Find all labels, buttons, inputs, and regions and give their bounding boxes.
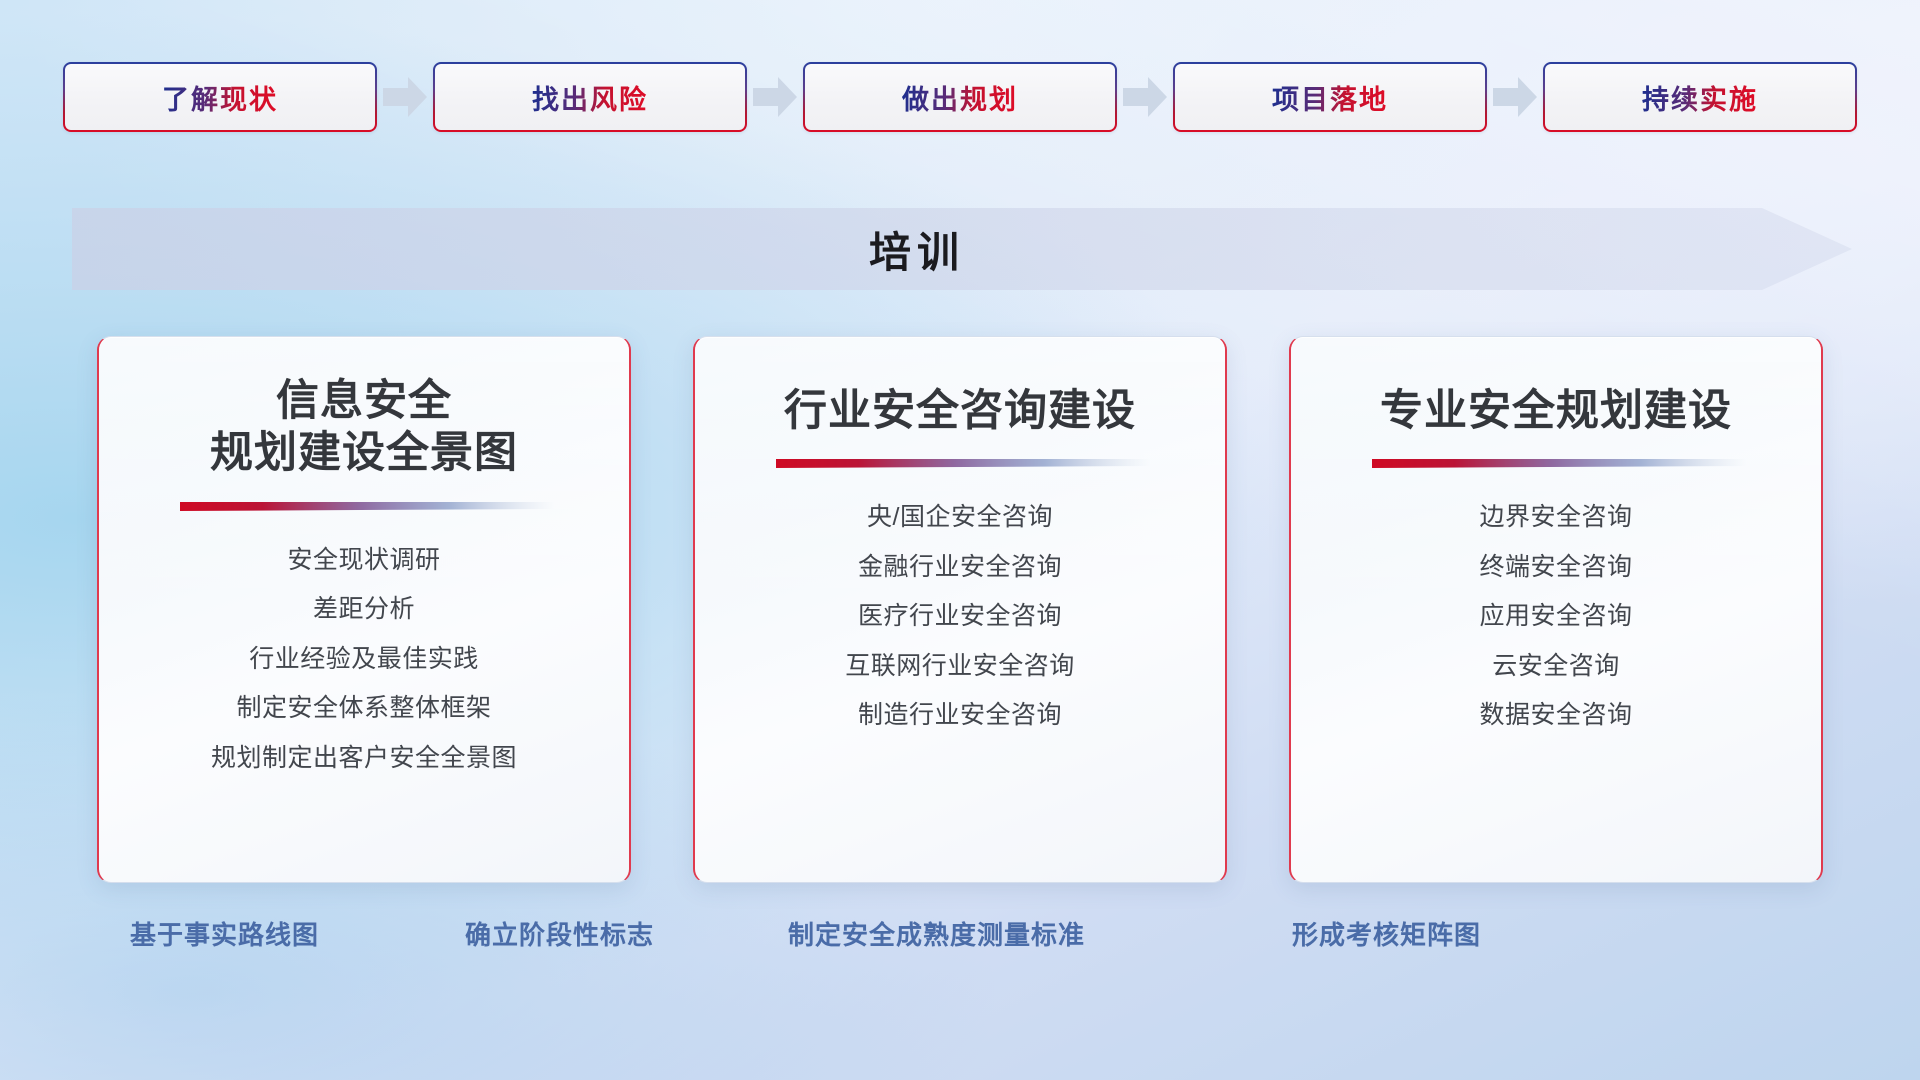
card-title: 行业安全咨询建设	[784, 385, 1136, 437]
card-divider	[770, 457, 1150, 471]
step-box-3[interactable]: 做出规划	[803, 62, 1117, 132]
card-list: 央/国企安全咨询金融行业安全咨询医疗行业安全咨询互联网行业安全咨询制造行业安全咨…	[845, 497, 1075, 736]
arrow-right-icon	[747, 62, 803, 132]
list-item: 制造行业安全咨询	[858, 695, 1062, 736]
list-item: 互联网行业安全咨询	[845, 646, 1075, 687]
footer-note-2: 确立阶段性标志	[465, 915, 654, 952]
list-item: 金融行业安全咨询	[858, 547, 1062, 588]
card-divider	[1366, 457, 1746, 471]
step-label: 持续实施	[1642, 78, 1758, 117]
training-banner: 培训	[72, 208, 1852, 290]
card-list: 边界安全咨询终端安全咨询应用安全咨询云安全咨询数据安全咨询	[1479, 497, 1632, 736]
list-item: 医疗行业安全咨询	[858, 596, 1062, 637]
list-item: 应用安全咨询	[1479, 596, 1632, 637]
card-1[interactable]: 信息安全 规划建设全景图安全现状调研差距分析行业经验及最佳实践制定安全体系整体框…	[97, 336, 631, 883]
cards-row: 信息安全 规划建设全景图安全现状调研差距分析行业经验及最佳实践制定安全体系整体框…	[0, 336, 1920, 881]
arrow-right-icon	[377, 62, 433, 132]
card-title: 专业安全规划建设	[1380, 385, 1732, 437]
footer-note-1: 基于事实路线图	[130, 915, 319, 952]
card-divider	[174, 500, 554, 514]
list-item: 云安全咨询	[1492, 646, 1620, 687]
list-item: 差距分析	[313, 589, 415, 630]
step-label: 项目落地	[1272, 78, 1388, 117]
list-item: 数据安全咨询	[1479, 695, 1632, 736]
list-item: 规划制定出客户安全全景图	[211, 738, 517, 779]
card-3[interactable]: 专业安全规划建设边界安全咨询终端安全咨询应用安全咨询云安全咨询数据安全咨询	[1289, 336, 1823, 883]
list-item: 制定安全体系整体框架	[236, 688, 491, 729]
footer-note-3: 制定安全成熟度测量标准	[788, 915, 1085, 952]
step-box-2[interactable]: 找出风险	[433, 62, 747, 132]
card-title: 信息安全 规划建设全景图	[210, 375, 518, 480]
list-item: 边界安全咨询	[1479, 497, 1632, 538]
list-item: 行业经验及最佳实践	[249, 639, 479, 680]
step-box-1[interactable]: 了解现状	[63, 62, 377, 132]
footer-note-4: 形成考核矩阵图	[1292, 915, 1481, 952]
arrow-right-icon	[1487, 62, 1543, 132]
step-box-4[interactable]: 项目落地	[1173, 62, 1487, 132]
step-label: 找出风险	[532, 78, 648, 117]
arrow-right-icon	[1117, 62, 1173, 132]
footer-notes-row: 基于事实路线图确立阶段性标志制定安全成熟度测量标准形成考核矩阵图	[0, 915, 1920, 975]
list-item: 央/国企安全咨询	[867, 497, 1053, 538]
banner-label: 培训	[72, 208, 1762, 290]
process-steps-row: 了解现状找出风险做出规划项目落地持续实施	[0, 62, 1920, 132]
list-item: 安全现状调研	[287, 540, 440, 581]
card-list: 安全现状调研差距分析行业经验及最佳实践制定安全体系整体框架规划制定出客户安全全景…	[211, 540, 517, 779]
step-label: 了解现状	[162, 78, 278, 117]
step-box-5[interactable]: 持续实施	[1543, 62, 1857, 132]
step-label: 做出规划	[902, 78, 1018, 117]
list-item: 终端安全咨询	[1479, 547, 1632, 588]
card-2[interactable]: 行业安全咨询建设央/国企安全咨询金融行业安全咨询医疗行业安全咨询互联网行业安全咨…	[693, 336, 1227, 883]
